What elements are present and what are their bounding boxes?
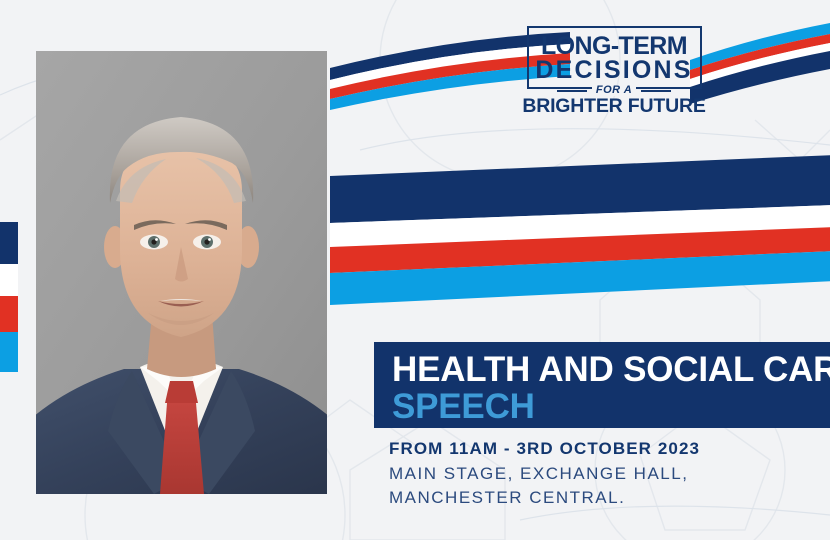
left-edge-ribbon [0, 222, 18, 372]
event-venue-line-2: MANCHESTER CENTRAL. [389, 486, 819, 510]
ribbon-stripe-white [0, 264, 18, 296]
event-title: HEALTH AND SOCIAL CARE [392, 352, 830, 388]
event-subtitle: SPEECH [392, 389, 830, 426]
logo-line-decisions: DECISIONS [535, 58, 692, 83]
ribbon-stripe-navy [0, 222, 18, 264]
logo-rule-right [641, 90, 671, 92]
event-time: FROM 11AM - 3RD OCTOBER 2023 [389, 436, 819, 462]
campaign-logo: LONG-TERM DECISIONS FOR A BRIGHTER FUTUR… [519, 26, 709, 114]
portrait-illustration [36, 51, 327, 494]
speaker-portrait [36, 51, 327, 494]
logo-connector-group: FOR A [529, 85, 700, 96]
ribbon-stripe-light-blue [0, 332, 18, 372]
logo-rule-left [557, 90, 587, 92]
ribbon-stripe-red [0, 296, 18, 332]
mid-band-ribbon [330, 155, 830, 315]
ribbon-top-right [690, 10, 830, 120]
poster-canvas: LONG-TERM DECISIONS FOR A BRIGHTER FUTUR… [0, 0, 830, 540]
event-details: FROM 11AM - 3RD OCTOBER 2023 MAIN STAGE,… [389, 436, 819, 510]
logo-line-long-term: LONG-TERM [541, 34, 687, 58]
logo-box: LONG-TERM DECISIONS FOR A [527, 26, 702, 89]
logo-line-brighter-future: BRIGHTER FUTURE [522, 97, 705, 117]
title-banner: HEALTH AND SOCIAL CARE SPEECH [374, 342, 830, 428]
event-venue-line-1: MAIN STAGE, EXCHANGE HALL, [389, 462, 819, 486]
logo-connector-for-a: FOR A [592, 85, 636, 96]
